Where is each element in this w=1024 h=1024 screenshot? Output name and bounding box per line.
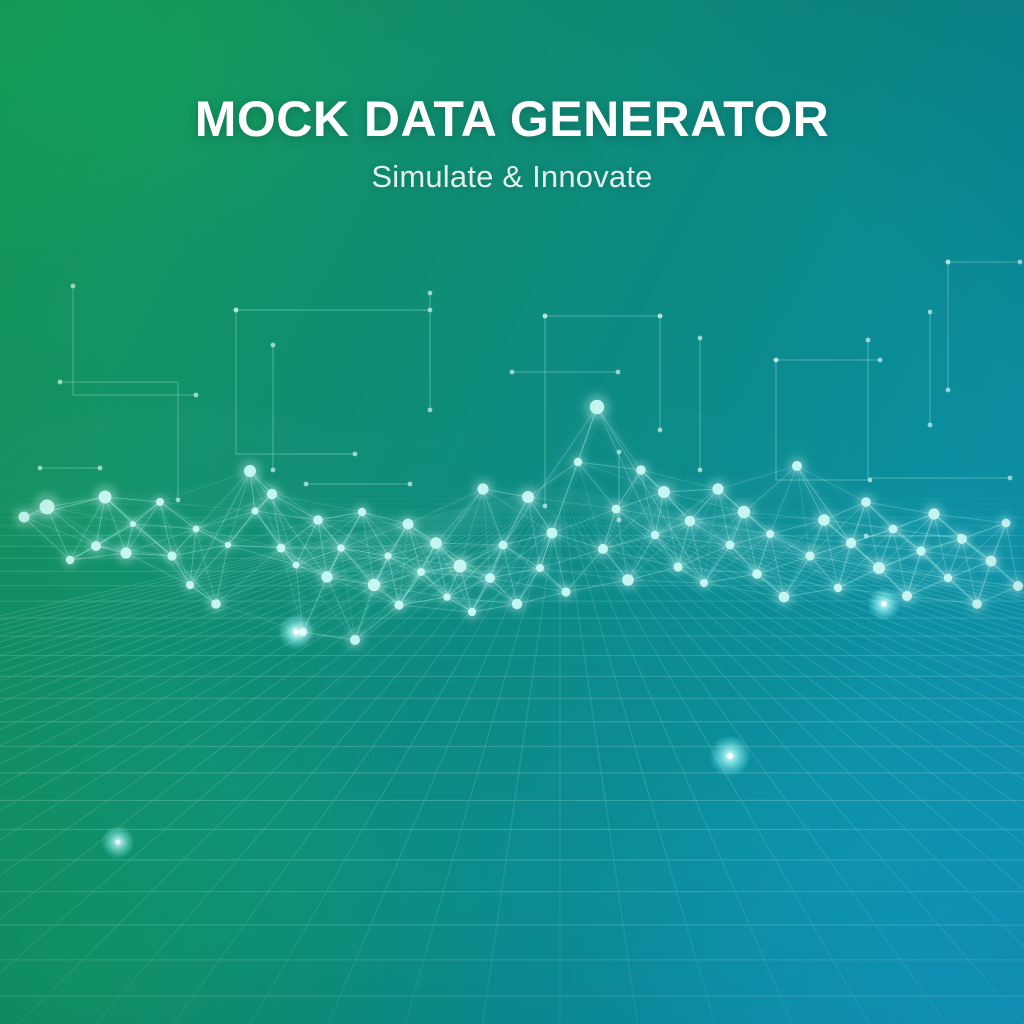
vignette-overlay bbox=[0, 0, 1024, 1024]
poster-canvas: MOCK DATA GENERATOR Simulate & Innovate bbox=[0, 0, 1024, 1024]
